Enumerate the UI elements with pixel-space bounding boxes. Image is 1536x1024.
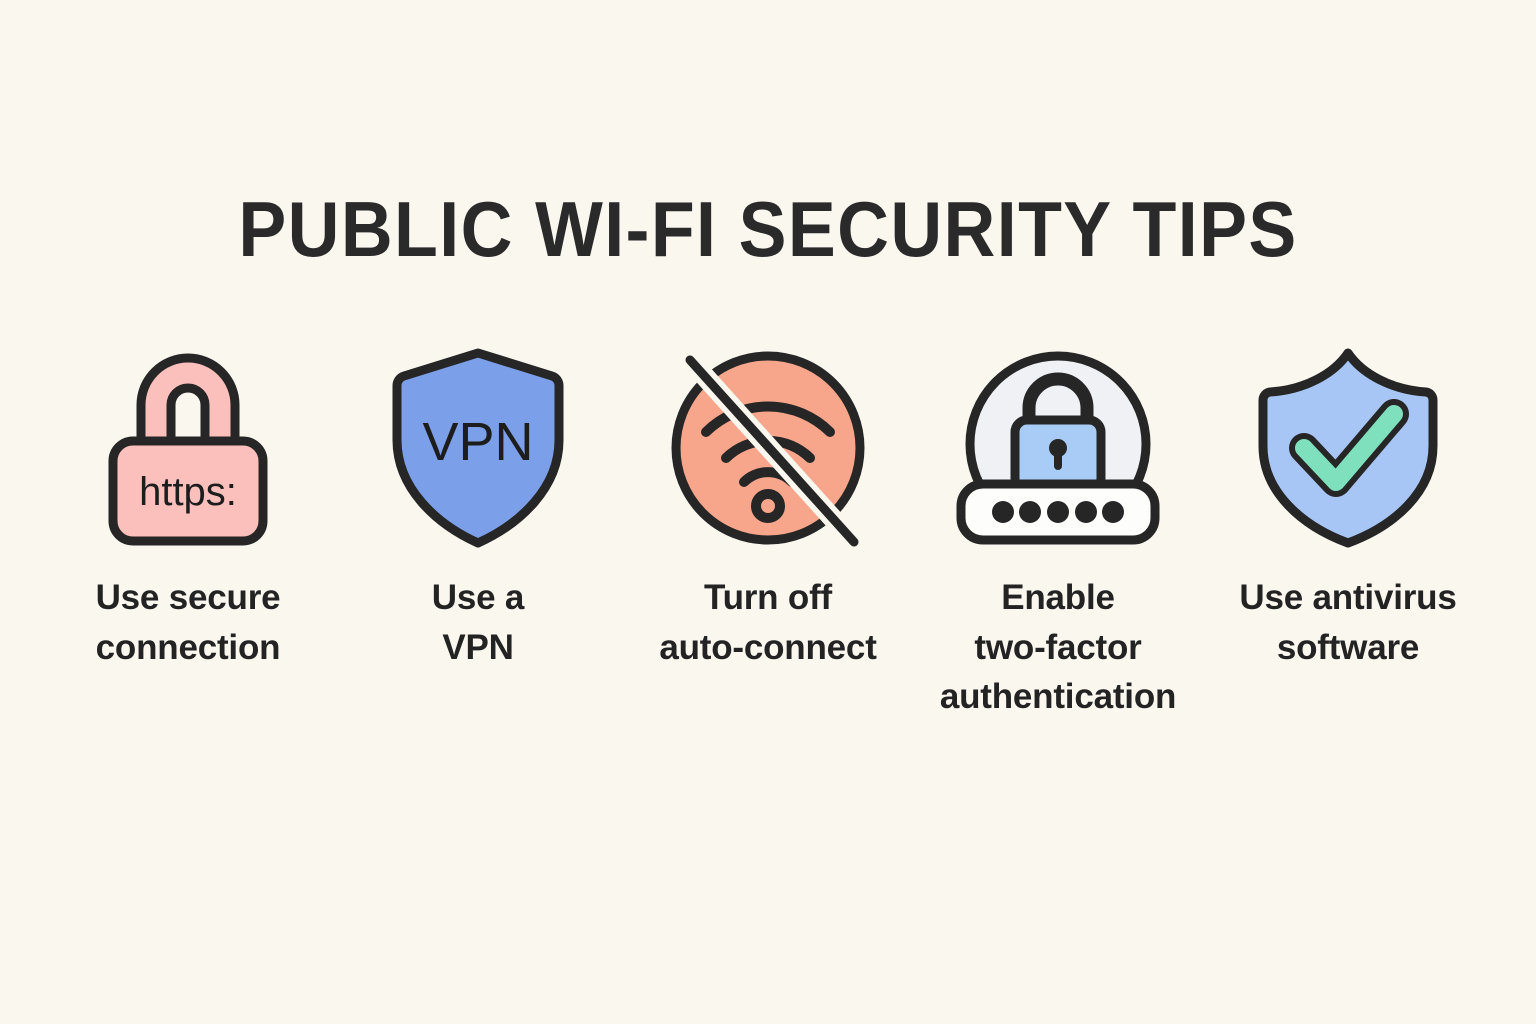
poster-canvas: PUBLIC WI-FI SECURITY TIPS https: Use se…: [0, 0, 1536, 1024]
tip-item-use-vpn: VPN Use a VPN: [333, 340, 623, 672]
tip-caption: Enable two-factor authentication: [940, 573, 1176, 722]
tip-caption: Turn off auto-connect: [659, 573, 876, 672]
tip-caption: Use a VPN: [432, 573, 524, 672]
tip-caption: Use secure connection: [96, 573, 281, 672]
padlock-https-icon: https:: [83, 340, 293, 555]
password-lock-icon: [953, 340, 1163, 555]
tip-caption: Use antivirus software: [1239, 573, 1456, 672]
page-title: PUBLIC WI-FI SECURITY TIPS: [61, 190, 1474, 268]
shield-vpn-icon: VPN: [373, 340, 583, 555]
wifi-off-icon: [663, 340, 873, 555]
tip-item-two-factor-authentication: Enable two-factor authentication: [913, 340, 1203, 722]
tips-row: https: Use secure connection VPN Use a V…: [0, 340, 1536, 722]
tip-item-turn-off-auto-connect: Turn off auto-connect: [623, 340, 913, 672]
svg-text:https:: https:: [139, 470, 237, 514]
svg-text:VPN: VPN: [422, 412, 533, 472]
shield-check-icon: [1243, 340, 1453, 555]
tip-item-secure-connection: https: Use secure connection: [43, 340, 333, 672]
tip-item-antivirus-software: Use antivirus software: [1203, 340, 1493, 672]
